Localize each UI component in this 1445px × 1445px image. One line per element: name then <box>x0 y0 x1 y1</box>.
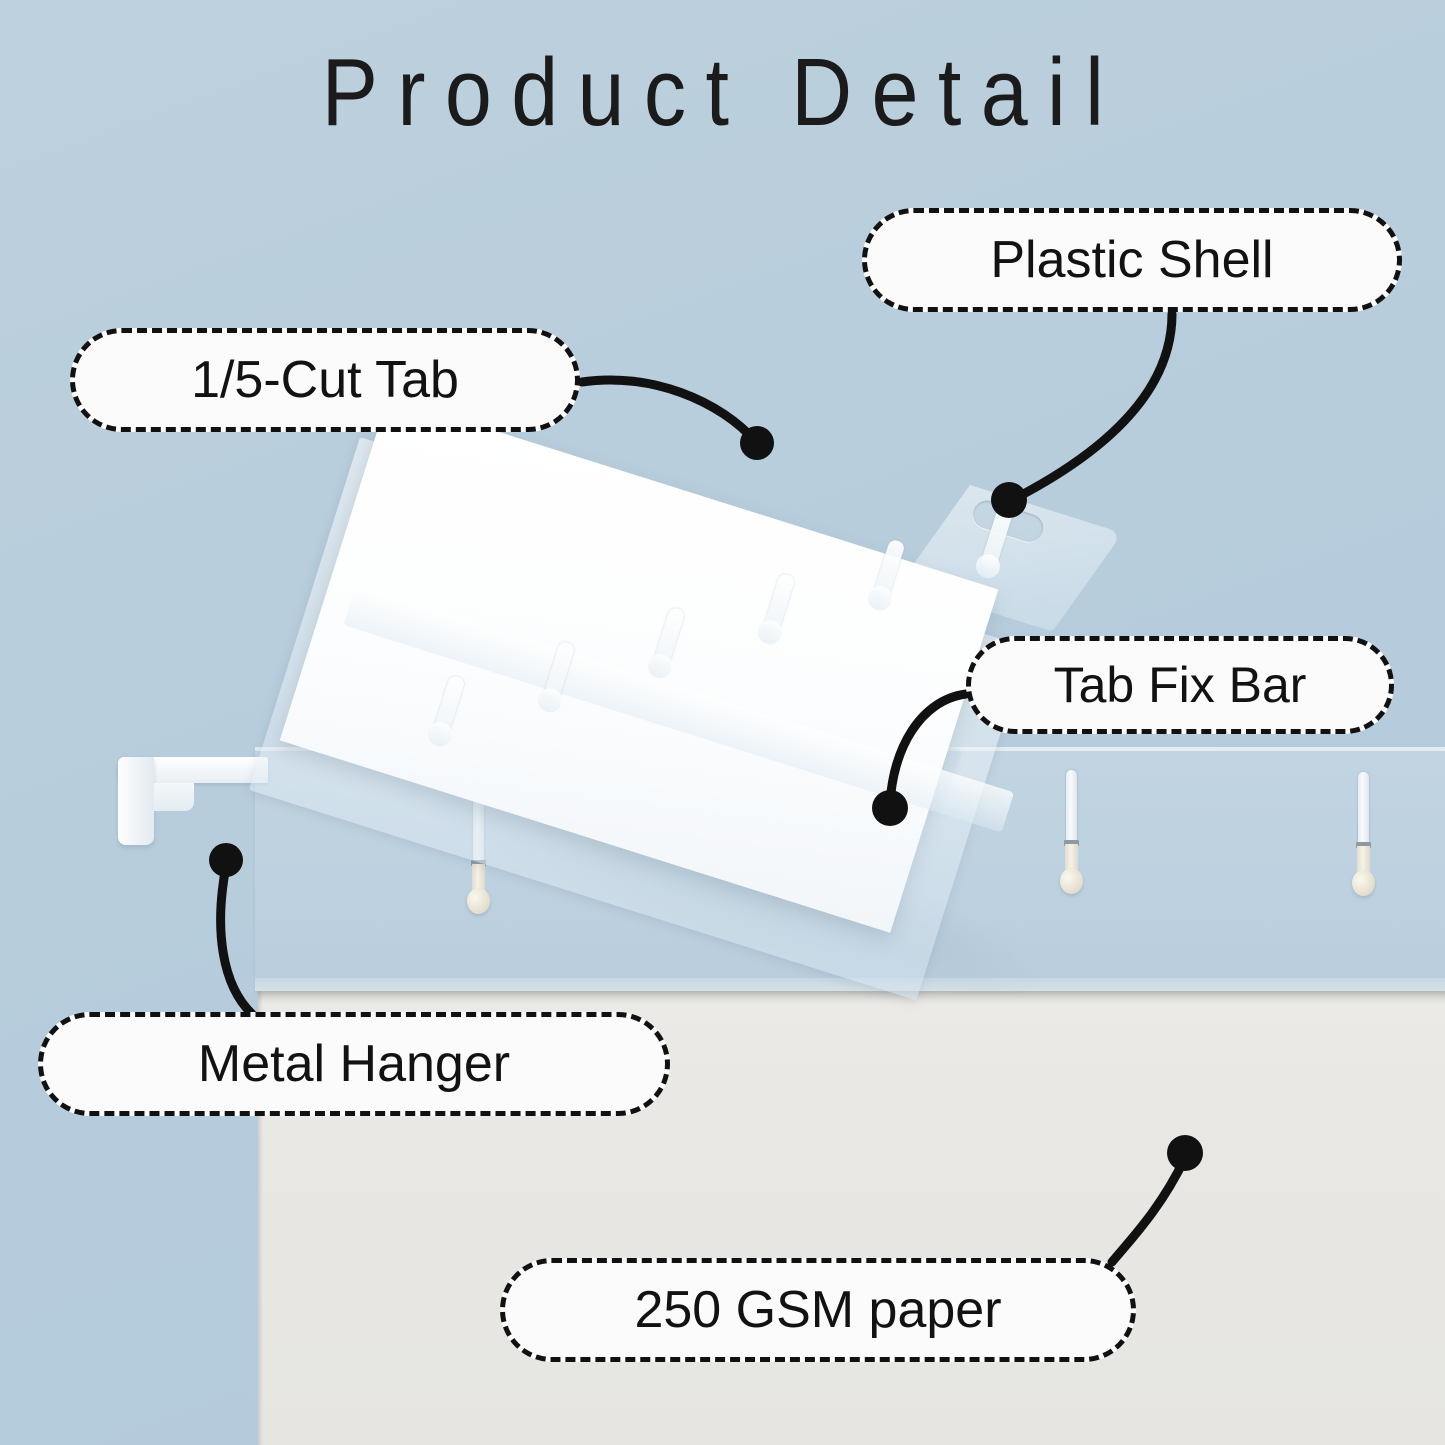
callout-tab-fix-bar[interactable]: Tab Fix Bar <box>966 636 1394 734</box>
callout-plastic-shell[interactable]: Plastic Shell <box>862 208 1402 312</box>
callout-gsm-paper[interactable]: 250 GSM paper <box>500 1258 1136 1362</box>
callout-label: Tab Fix Bar <box>1054 660 1307 710</box>
metal-hanger-hook <box>118 757 268 853</box>
callout-label: 1/5-Cut Tab <box>191 354 459 406</box>
product-detail-graphic: Product Detail 1/5-Cut Tab Plastic Shell… <box>0 0 1445 1445</box>
callout-label: Plastic Shell <box>990 234 1273 286</box>
callout-metal-hanger[interactable]: Metal Hanger <box>38 1012 670 1116</box>
tab-slot <box>1352 772 1374 897</box>
page-title: Product Detail <box>87 38 1359 148</box>
callout-label: 250 GSM paper <box>634 1284 1001 1336</box>
folder-drop-shadow <box>258 991 1445 1005</box>
callout-cut-tab[interactable]: 1/5-Cut Tab <box>70 328 580 432</box>
callout-label: Metal Hanger <box>198 1038 510 1090</box>
white-insert-card <box>280 397 999 933</box>
